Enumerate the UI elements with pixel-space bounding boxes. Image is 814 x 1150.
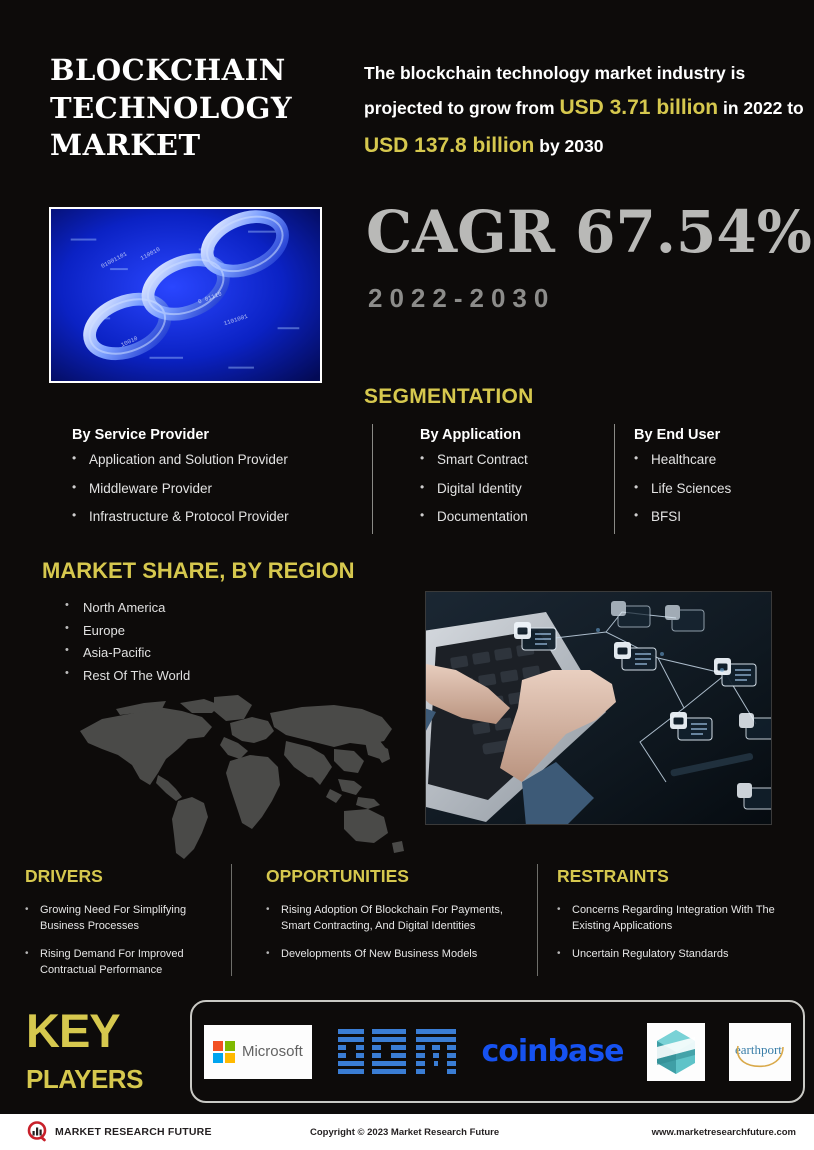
footer-copyright: Copyright © 2023 Market Research Future bbox=[310, 1127, 499, 1138]
footer-website-url[interactable]: www.marketresearchfuture.com bbox=[652, 1127, 796, 1138]
list-item: Rest Of The World bbox=[65, 669, 190, 682]
ibm-logo bbox=[336, 1027, 458, 1077]
world-map-icon bbox=[62, 693, 407, 865]
list-item: Digital Identity bbox=[420, 482, 610, 496]
list-item: BFSI bbox=[634, 510, 804, 524]
headline-value-2022: USD 3.71 billion bbox=[559, 96, 718, 119]
ibm-wordmark-icon bbox=[336, 1027, 458, 1077]
list-item: Developments Of New Business Models bbox=[266, 947, 528, 963]
list-item: Smart Contract bbox=[420, 453, 610, 467]
svg-text:earthport: earthport bbox=[735, 1042, 782, 1057]
analysis-column-restraints: RESTRAINTS Concerns Regarding Integratio… bbox=[557, 866, 807, 975]
key-players-label-players: PLAYERS bbox=[26, 1066, 143, 1092]
segmentation-list: Smart Contract Digital Identity Document… bbox=[420, 453, 610, 524]
analysis-divider-1 bbox=[231, 864, 232, 976]
cagr-period: 2022-2030 bbox=[368, 283, 555, 314]
headline-statement: The blockchain technology market industr… bbox=[364, 58, 814, 164]
headline-text-3: by 2030 bbox=[534, 136, 603, 156]
list-item: Healthcare bbox=[634, 453, 804, 467]
list-item: Uncertain Regulatory Standards bbox=[557, 947, 807, 963]
list-item: Documentation bbox=[420, 510, 610, 524]
chain-link-illustration: 01001101 110010 0 01110 10010 1101001 bbox=[51, 209, 320, 382]
segmentation-heading: By Application bbox=[420, 427, 610, 443]
list-item: Rising Demand For Improved Contractual P… bbox=[25, 947, 225, 979]
analysis-heading: OPPORTUNITIES bbox=[266, 866, 528, 887]
list-item: Middleware Provider bbox=[72, 482, 362, 496]
infographic-page: BLOCKCHAIN TECHNOLOGY MARKET The blockch… bbox=[0, 0, 814, 1150]
microsoft-wordmark: Microsoft bbox=[242, 1043, 303, 1060]
key-players-label-key: KEY bbox=[26, 1007, 120, 1054]
list-item: Europe bbox=[65, 624, 190, 637]
analysis-heading: DRIVERS bbox=[25, 866, 225, 887]
segmentation-list: Healthcare Life Sciences BFSI bbox=[634, 453, 804, 524]
earthport-icon: earthport bbox=[731, 1030, 789, 1074]
analysis-divider-2 bbox=[537, 864, 538, 976]
hexagon-cube-icon bbox=[655, 1029, 697, 1075]
segmentation-heading: By End User bbox=[634, 427, 804, 443]
analysis-list: Rising Adoption Of Blockchain For Paymen… bbox=[266, 903, 528, 963]
page-title: BLOCKCHAIN TECHNOLOGY MARKET bbox=[50, 52, 350, 165]
microsoft-squares-icon bbox=[213, 1041, 235, 1063]
earthport-logo: earthport bbox=[729, 1023, 791, 1081]
list-item: Application and Solution Provider bbox=[72, 453, 362, 467]
analysis-list: Concerns Regarding Integration With The … bbox=[557, 903, 807, 963]
footer-brand-name: MARKET RESEARCH FUTURE bbox=[55, 1126, 212, 1138]
list-item: Asia-Pacific bbox=[65, 646, 190, 659]
list-item: Infrastructure & Protocol Provider bbox=[72, 510, 362, 524]
list-item: Rising Adoption Of Blockchain For Paymen… bbox=[266, 903, 528, 935]
magnifier-chart-icon bbox=[27, 1121, 49, 1143]
segmentation-list: Application and Solution Provider Middle… bbox=[72, 453, 362, 524]
analysis-heading: RESTRAINTS bbox=[557, 866, 807, 887]
segmentation-divider-1 bbox=[372, 424, 373, 534]
list-item: North America bbox=[65, 601, 190, 614]
segmentation-divider-2 bbox=[614, 424, 615, 534]
segmentation-column-application: By Application Smart Contract Digital Id… bbox=[420, 427, 610, 539]
footer-logo: MARKET RESEARCH FUTURE bbox=[27, 1121, 212, 1143]
blockchain-chain-image: 01001101 110010 0 01110 10010 1101001 bbox=[49, 207, 322, 383]
coinbase-logo: coinbase bbox=[481, 1034, 623, 1069]
analysis-list: Growing Need For Simplifying Business Pr… bbox=[25, 903, 225, 979]
list-item: Life Sciences bbox=[634, 482, 804, 496]
market-share-title: MARKET SHARE, BY REGION bbox=[42, 558, 355, 584]
segmentation-heading: By Service Provider bbox=[72, 427, 362, 443]
segmentation-column-end-user: By End User Healthcare Life Sciences BFS… bbox=[634, 427, 804, 539]
segmentation-title: SEGMENTATION bbox=[364, 385, 534, 409]
list-item: Concerns Regarding Integration With The … bbox=[557, 903, 807, 935]
microsoft-logo: Microsoft bbox=[204, 1025, 312, 1079]
headline-text-2: in 2022 to bbox=[718, 98, 804, 118]
laptop-network-illustration bbox=[426, 592, 772, 825]
region-list: North America Europe Asia-Pacific Rest O… bbox=[65, 601, 190, 691]
analysis-column-opportunities: OPPORTUNITIES Rising Adoption Of Blockch… bbox=[266, 866, 528, 975]
cagr-value: CAGR 67.54% bbox=[366, 203, 814, 261]
hexagon-cube-logo bbox=[647, 1023, 705, 1081]
key-players-logo-box: Microsoft coinbase bbox=[190, 1000, 805, 1103]
analysis-column-drivers: DRIVERS Growing Need For Simplifying Bus… bbox=[25, 866, 225, 991]
segmentation-column-service-provider: By Service Provider Application and Solu… bbox=[72, 427, 362, 539]
headline-value-2030: USD 137.8 billion bbox=[364, 134, 534, 157]
list-item: Growing Need For Simplifying Business Pr… bbox=[25, 903, 225, 935]
laptop-blockchain-photo bbox=[425, 591, 772, 825]
footer: MARKET RESEARCH FUTURE Copyright © 2023 … bbox=[0, 1114, 814, 1150]
